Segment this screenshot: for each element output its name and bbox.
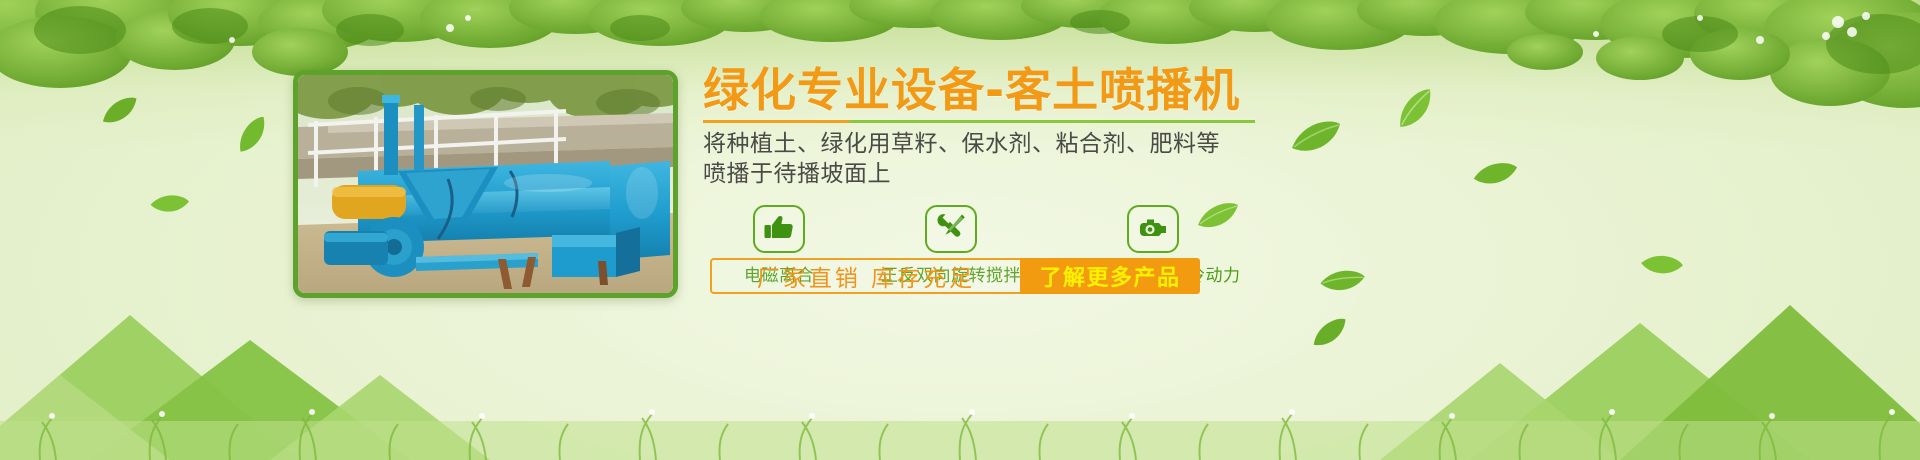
- title-divider: [703, 120, 1255, 123]
- page-title: 绿化专业设备-客土喷播机: [703, 66, 1323, 116]
- grass-decoration: [0, 380, 1920, 460]
- feature-icon-box: [753, 205, 805, 253]
- promo-banner: 绿化专业设备-客土喷播机 将种植土、绿化用草籽、保水剂、粘合剂、肥料等 喷播于待…: [0, 0, 1920, 460]
- product-photo-image: [298, 75, 673, 293]
- cta-bar: 厂家直销 库存充足 了解更多产品: [710, 258, 1200, 294]
- subtitle-line-1: 将种植土、绿化用草籽、保水剂、粘合剂、肥料等: [703, 129, 1323, 159]
- cta-slogan: 厂家直销 库存充足: [712, 260, 1020, 292]
- product-photo[interactable]: [293, 70, 678, 298]
- subtitle-line-2: 喷播于待播坡面上: [703, 159, 1323, 189]
- learn-more-button[interactable]: 了解更多产品: [1020, 258, 1200, 294]
- leaf-decoration-icon: [98, 93, 142, 130]
- wrench-screwdriver-icon: [936, 213, 966, 245]
- feature-icon-box: [1127, 205, 1179, 253]
- feature-icon-box: [925, 205, 977, 253]
- subtitle: 将种植土、绿化用草籽、保水剂、粘合剂、肥料等 喷播于待播坡面上: [703, 129, 1323, 190]
- banner-content: 绿化专业设备-客土喷播机 将种植土、绿化用草籽、保水剂、粘合剂、肥料等 喷播于待…: [703, 66, 1323, 286]
- thumbs-up-icon: [764, 214, 794, 244]
- engine-icon: [1137, 214, 1169, 244]
